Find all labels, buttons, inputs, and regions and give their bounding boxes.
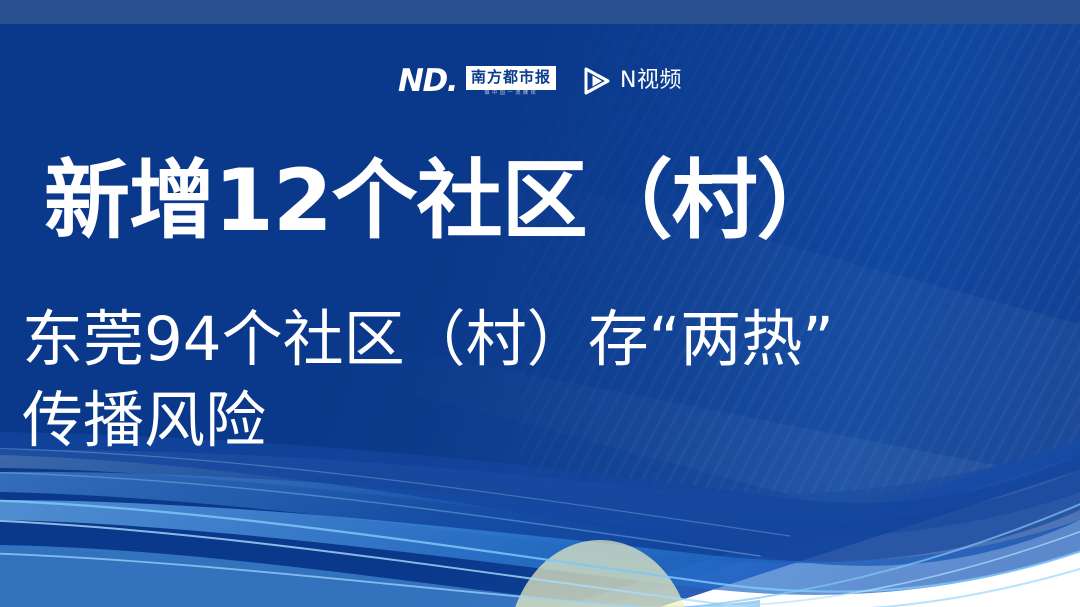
- page-title: 新增12个社区（村）: [44, 158, 842, 244]
- play-triangle-icon: [582, 66, 612, 96]
- brand-logo-bar: ND. 南方都市报 做中国一流媒体 N视频: [0, 58, 1080, 104]
- subtitle-line-1: 东莞94个社区（村）存“两热”: [22, 300, 1032, 381]
- nandu-slogan-label: 做中国一流媒体: [484, 91, 538, 96]
- nvideo-label: N视频: [620, 70, 682, 92]
- nandu-name-label: 南方都市报: [466, 66, 556, 90]
- nandu-name-block: 南方都市报 做中国一流媒体: [466, 66, 556, 97]
- nd-wordmark-icon: ND.: [398, 66, 457, 97]
- news-poster: ND. 南方都市报 做中国一流媒体 N视频 新增12个社区（村） 东莞94个社区…: [0, 0, 1080, 607]
- subtitle-line-2: 传播风险: [22, 381, 1032, 462]
- nvideo-logo: N视频: [582, 66, 682, 96]
- nandu-logo: ND. 南方都市报 做中国一流媒体: [398, 66, 556, 97]
- subtitle: 东莞94个社区（村）存“两热” 传播风险: [22, 300, 1032, 461]
